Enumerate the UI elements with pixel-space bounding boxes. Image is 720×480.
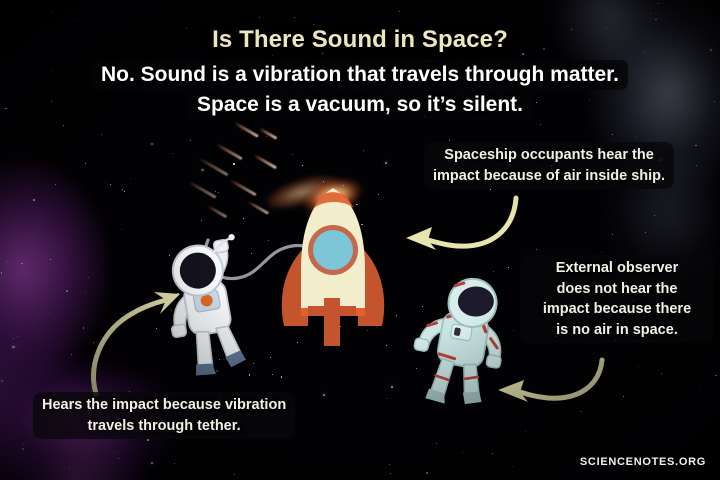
callout-external-observer: External observer does not hear the impa…	[520, 255, 714, 343]
callout-spaceship-occupants: Spaceship occupants hear the impact beca…	[424, 142, 674, 189]
callout-tether-line-1: Hears the impact because vibration	[42, 395, 286, 416]
callout-observer-line-1: External observer	[529, 258, 705, 279]
page-title: Is There Sound in Space?	[0, 26, 720, 54]
callout-observer-line-2: does not hear the	[529, 279, 705, 300]
rocket-ship	[268, 186, 398, 346]
callout-observer-line-3: impact because there	[529, 299, 705, 320]
subtitle-line-1: No. Sound is a vibration that travels th…	[92, 60, 628, 90]
callout-spaceship-line-1: Spaceship occupants hear the	[433, 145, 665, 166]
astronaut-external-observer	[412, 272, 516, 408]
callout-spaceship-line-2: impact because of air inside ship.	[433, 166, 665, 187]
callout-observer-line-4: is no air in space.	[529, 320, 705, 341]
infographic-canvas: Is There Sound in Space? No. Sound is a …	[0, 0, 720, 480]
callout-tether-line-2: travels through tether.	[42, 416, 286, 437]
footer-attribution: SCIENCENOTES.ORG	[580, 456, 706, 468]
astronaut-tethered	[156, 233, 264, 378]
subtitle: No. Sound is a vibration that travels th…	[0, 60, 720, 119]
subtitle-line-2: Space is a vacuum, so it’s silent.	[188, 90, 532, 120]
callout-tether-vibration: Hears the impact because vibration trave…	[33, 392, 295, 439]
